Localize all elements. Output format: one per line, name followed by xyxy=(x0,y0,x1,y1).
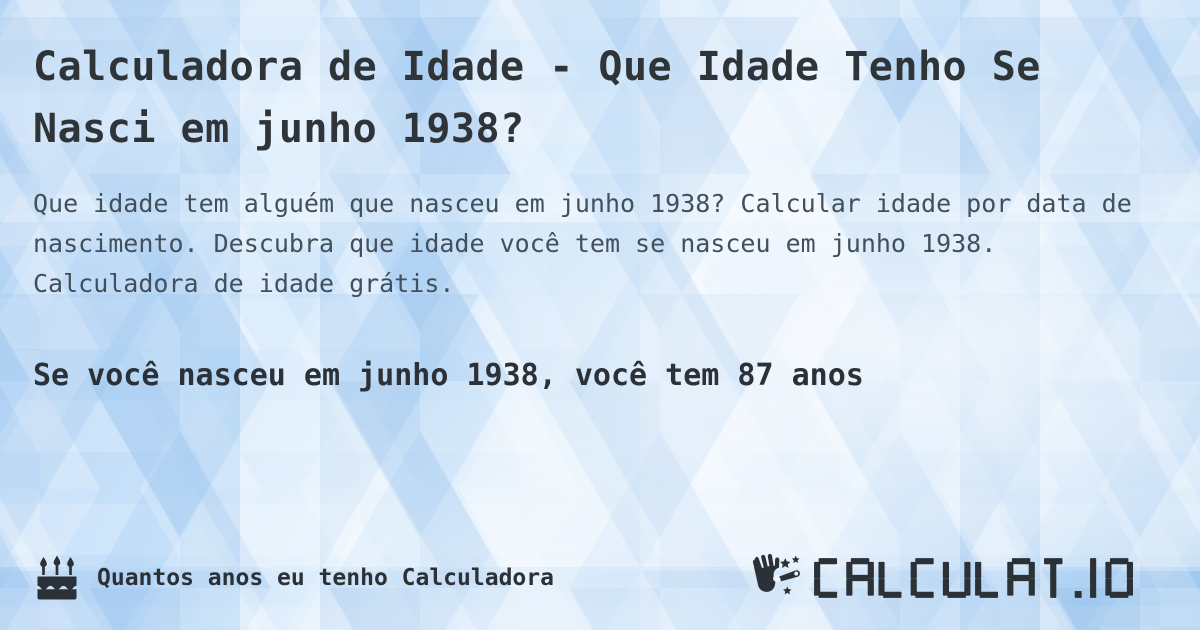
magic-wand-hand-icon xyxy=(751,553,805,603)
age-answer-statement: Se você nasceu em junho 1938, você tem 8… xyxy=(33,356,1163,396)
footer-site-label: Quantos anos eu tenho Calculadora xyxy=(97,565,554,591)
birthday-cake-icon xyxy=(33,554,81,602)
brand-wordmark-calculatio: CALCULAT.IO xyxy=(811,555,1165,601)
footer-brand-left: Quantos anos eu tenho Calculadora xyxy=(33,554,554,602)
page-description: Que idade tem alguém que nasceu em junho… xyxy=(33,184,1143,304)
brand-logo[interactable]: CALCULAT.IO xyxy=(751,553,1167,603)
page-title: Calculadora de Idade - Que Idade Tenho S… xyxy=(33,36,1053,160)
footer: Quantos anos eu tenho Calculadora xyxy=(0,548,1200,608)
og-card: Calculadora de Idade - Que Idade Tenho S… xyxy=(0,0,1200,630)
content-area: Calculadora de Idade - Que Idade Tenho S… xyxy=(0,0,1200,630)
